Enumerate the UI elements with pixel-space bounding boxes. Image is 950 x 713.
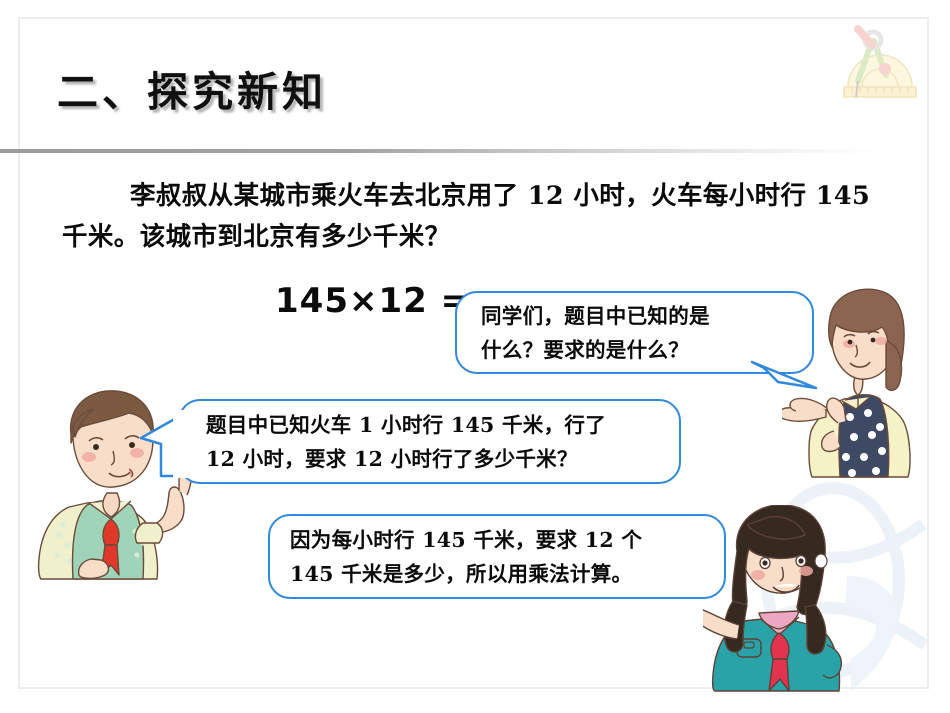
bubble-teacher-line2: 什么？要求的是什么？ [481,333,796,367]
bubble-teacher-text: 同学们，题目中已知的是 什么？要求的是什么？ [481,299,796,367]
bubble-boy-line1: 题目中已知火车 1 小时行 145 千米，行了 [206,408,665,442]
slide-canvas: 二、探究新知 李叔叔从某城市乘火车去北京用了 12 小时，火车每小时行 145 … [0,0,950,713]
equation-expression: 145×12 = [275,281,470,321]
bubble-boy-line2: 12 小时，要求 12 小时行了多少千米？ [206,442,665,476]
bubble-girl-text: 因为每小时行 145 千米，要求 12 个 145 千米是多少，所以用乘法计算。 [290,523,710,591]
compass-protractor-ruler-icon [828,23,924,107]
bubble-teacher-line1: 同学们，题目中已知的是 [481,299,796,333]
speech-bubble-boy: 题目中已知火车 1 小时行 145 千米，行了 12 小时，要求 12 小时行了… [178,399,681,484]
bubble-girl-line1: 因为每小时行 145 千米，要求 12 个 [290,523,710,557]
character-girl [703,505,868,692]
speech-bubble-teacher: 同学们，题目中已知的是 什么？要求的是什么？ [455,291,814,374]
page-title: 二、探究新知 [57,58,327,118]
bubble-boy-text: 题目中已知火车 1 小时行 145 千米，行了 12 小时，要求 12 小时行了… [206,408,665,476]
problem-statement: 李叔叔从某城市乘火车去北京用了 12 小时，火车每小时行 145 千米。该城市到… [62,176,892,258]
title-divider [0,149,880,153]
bubble-girl-line2: 145 千米是多少，所以用乘法计算。 [290,557,710,591]
speech-bubble-girl: 因为每小时行 145 千米，要求 12 个 145 千米是多少，所以用乘法计算。 [268,514,726,599]
